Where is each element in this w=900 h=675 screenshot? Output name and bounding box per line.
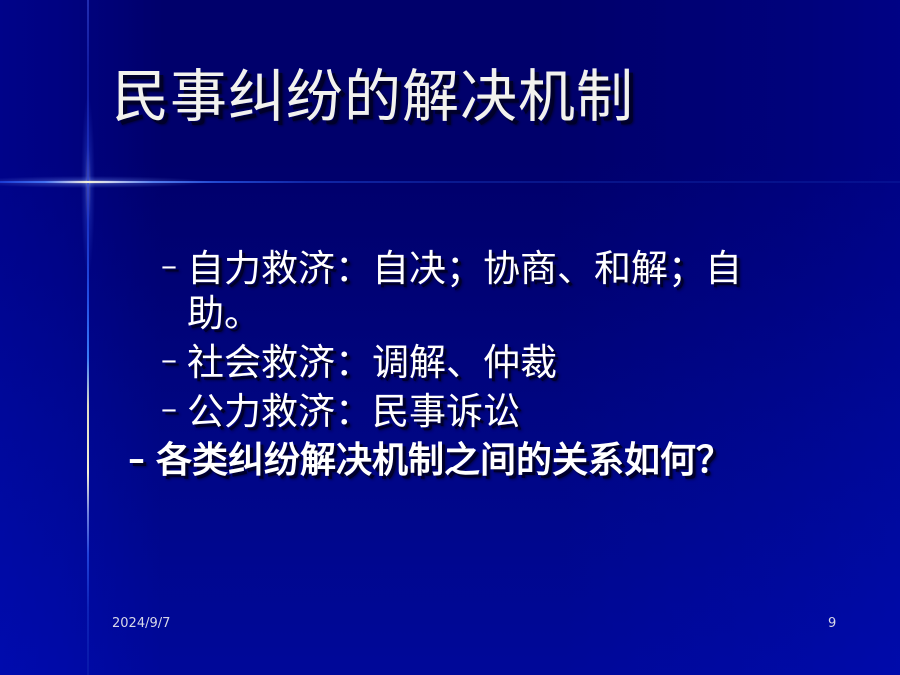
crosshair-horizontal-line-icon <box>0 181 900 183</box>
crosshair-vertical-line-icon <box>87 0 89 675</box>
bullet-text: 各类纠纷解决机制之间的关系如何？ <box>156 439 868 483</box>
bullet-dash-icon: – <box>128 439 156 480</box>
bullet-text: 公力救济：民事诉讼 <box>187 389 801 434</box>
bullet-text: 社会救济：调解、仲裁 <box>187 340 801 385</box>
bullet-item: – 各类纠纷解决机制之间的关系如何？ <box>128 439 868 483</box>
bullet-item: – 社会救济：调解、仲裁 <box>161 340 801 385</box>
presentation-slide: 民事纠纷的解决机制 – 自力救济：自决；协商、和解；自助。 – 社会救济：调解、… <box>0 0 900 675</box>
footer-page-number: 9 <box>828 616 836 631</box>
bullet-item: – 自力救济：自决；协商、和解；自助。 <box>161 246 801 336</box>
bullet-dash-icon: – <box>161 246 187 285</box>
bullet-dash-icon: – <box>161 340 187 379</box>
slide-title: 民事纠纷的解决机制 <box>112 68 634 128</box>
footer-date: 2024/9/7 <box>112 616 170 631</box>
bullet-dash-icon: – <box>161 389 187 428</box>
bullet-text: 自力救济：自决；协商、和解；自助。 <box>187 246 801 336</box>
slide-body-content: – 自力救济：自决；协商、和解；自助。 – 社会救济：调解、仲裁 – 公力救济：… <box>128 246 868 486</box>
bullet-item: – 公力救济：民事诉讼 <box>161 389 801 434</box>
